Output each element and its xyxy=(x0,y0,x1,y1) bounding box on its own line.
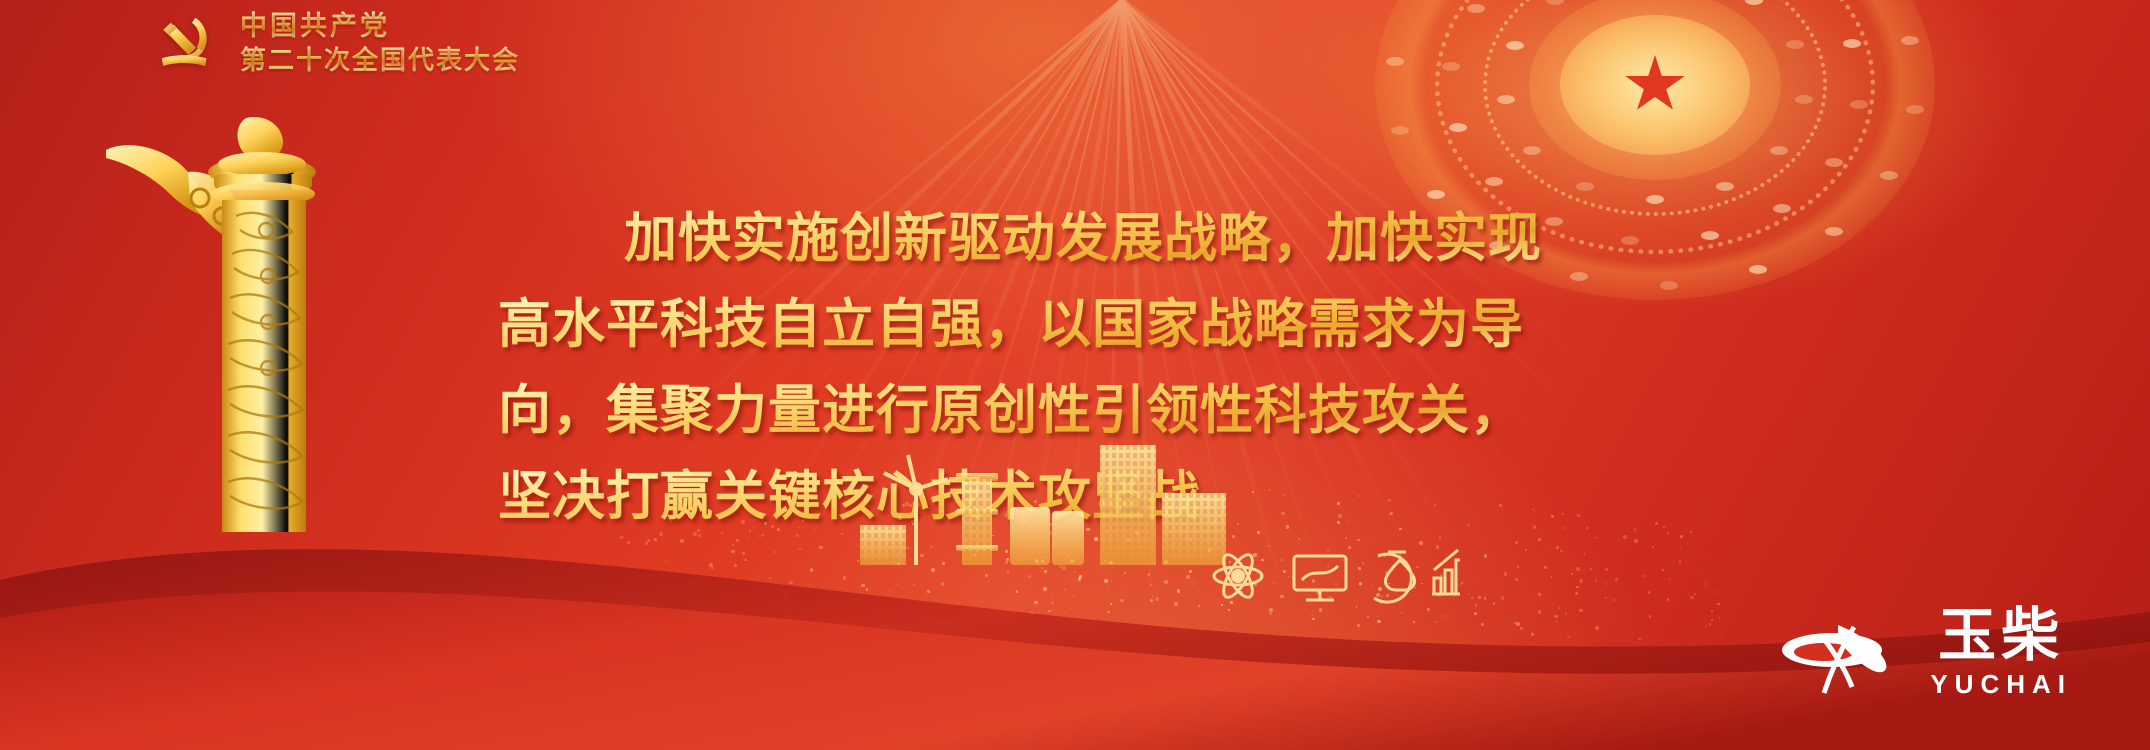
slogan-line-2: 高水平科技自立自强，以国家战略需求为导 xyxy=(498,282,1738,368)
yuchai-name-cn: 玉柴 xyxy=(1938,607,2064,665)
five-pointed-star xyxy=(1624,55,1686,115)
banner-root: 中国共产党 第二十次全国代表大会 xyxy=(0,0,2150,750)
congress-title-line-1: 中国共产党 xyxy=(240,11,520,42)
hammer-and-sickle-emblem xyxy=(152,8,222,78)
yuchai-wordmark: 玉柴 YUCHAI xyxy=(1930,607,2072,704)
yuchai-name-en: YUCHAI xyxy=(1930,665,2072,704)
congress-title-block: 中国共产党 第二十次全国代表大会 xyxy=(240,11,520,74)
yuchai-logo: 玉柴 YUCHAI xyxy=(1780,607,2072,704)
yuchai-swoosh-mark xyxy=(1780,617,1908,695)
congress-header: 中国共产党 第二十次全国代表大会 xyxy=(152,8,520,78)
ring-glow-core xyxy=(1560,15,1750,155)
slogan-line-1: 加快实施创新驱动发展战略，加快实现 xyxy=(498,196,1738,282)
red-wave-footer xyxy=(0,460,2150,750)
ring-dotted-2 xyxy=(1483,0,1827,216)
ring-glow-1 xyxy=(1529,0,1781,180)
congress-title-line-2: 第二十次全国代表大会 xyxy=(240,45,520,75)
